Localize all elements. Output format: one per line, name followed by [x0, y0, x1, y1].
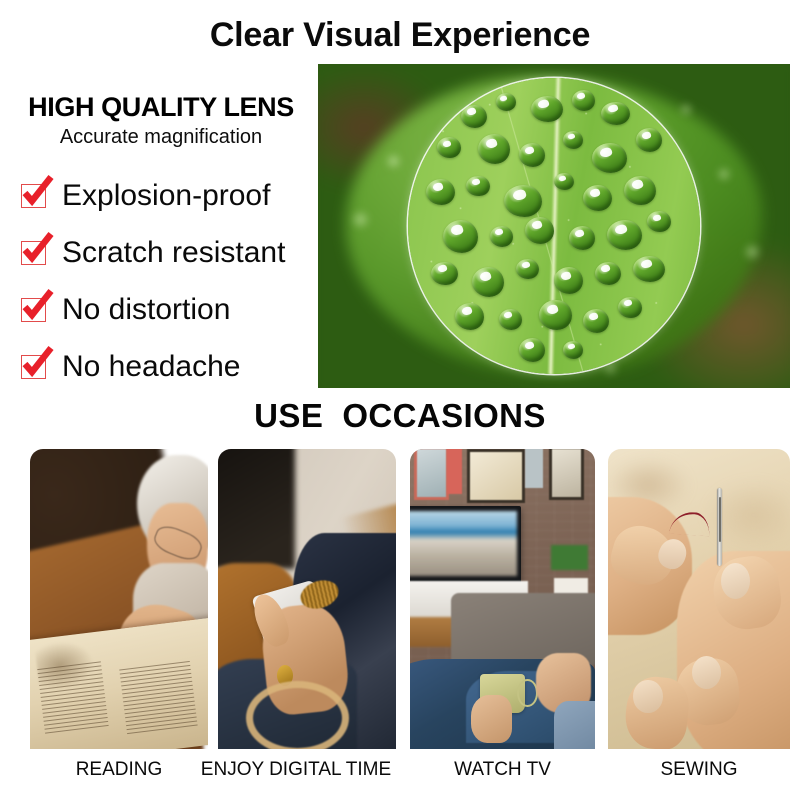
wall-picture-frame: [467, 449, 525, 503]
water-droplet: [618, 297, 641, 318]
shirt-sleeve: [554, 701, 595, 749]
water-droplet: [636, 128, 662, 152]
occasions-photo-strip: [0, 449, 800, 749]
hero-leaf-photo: [318, 64, 790, 388]
hand-holding-mug: [471, 695, 512, 743]
water-droplet: [572, 90, 595, 111]
caption-sewing: SEWING: [608, 757, 790, 783]
feature-label: No distortion: [62, 293, 230, 327]
checkbox-checked-icon: [21, 184, 46, 208]
water-droplet: [519, 143, 545, 167]
water-droplet: [496, 93, 516, 111]
mug-handle: [517, 679, 538, 707]
water-droplet: [443, 220, 478, 253]
checkbox-checked-icon: [21, 241, 46, 265]
caption-digital-time: ENJOY DIGITAL TIME: [196, 757, 396, 783]
features-subheading: Accurate magnification: [4, 125, 318, 149]
water-droplet: [516, 259, 539, 280]
water-droplet: [478, 134, 510, 164]
book-text-right: [119, 661, 198, 735]
water-droplet: [583, 185, 612, 212]
water-droplet: [504, 185, 542, 218]
page-title: Clear Visual Experience: [0, 14, 800, 56]
right-fingernail-lower: [633, 680, 662, 713]
checkbox-checked-icon: [21, 355, 46, 379]
water-droplet: [607, 220, 642, 250]
book-text-left: [37, 661, 109, 734]
water-droplet: [563, 341, 583, 359]
water-droplet: [472, 267, 504, 297]
water-droplet: [531, 96, 563, 123]
features-heading: HIGH QUALITY LENS: [4, 92, 318, 122]
feature-label: Explosion-proof: [62, 179, 270, 213]
water-droplet: [490, 226, 513, 247]
television-set: [410, 506, 521, 584]
wooden-cane-handle: [246, 681, 349, 749]
television-screen: [410, 511, 517, 577]
feature-list: Explosion-proof Scratch resistant No dis…: [0, 167, 318, 395]
right-fingernail-middle: [692, 656, 721, 689]
list-item: Scratch resistant: [0, 224, 318, 281]
water-droplet: [461, 105, 487, 129]
list-item: No headache: [0, 338, 318, 395]
water-droplet: [431, 262, 457, 286]
occasion-photo-watch-tv: [410, 449, 595, 749]
water-droplet: [539, 300, 571, 330]
phone-dark-corner: [218, 449, 295, 569]
water-droplet: [466, 176, 489, 197]
water-droplet: [595, 262, 621, 286]
wall-picture-frame: [525, 449, 544, 488]
occasion-captions: READING ENJOY DIGITAL TIME WATCH TV SEWI…: [0, 757, 800, 791]
water-droplet: [624, 176, 656, 206]
water-droplet: [592, 143, 627, 173]
list-item: Explosion-proof: [0, 167, 318, 224]
feature-label: Scratch resistant: [62, 236, 285, 270]
wall-picture-frame: [549, 449, 585, 500]
wall-picture-frame: [447, 449, 462, 494]
water-droplet: [519, 338, 545, 362]
needle-eye: [719, 497, 721, 542]
water-droplet: [633, 256, 665, 283]
checkbox-checked-icon: [21, 298, 46, 322]
occasion-photo-sewing: [608, 449, 790, 749]
water-droplet: [583, 309, 609, 333]
feature-label: No headache: [62, 350, 240, 384]
caption-watch-tv: WATCH TV: [410, 757, 595, 783]
wall-picture-frame: [414, 449, 450, 500]
features-section: HIGH QUALITY LENS Accurate magnification…: [0, 92, 318, 411]
magnifier-lens-circle: [408, 78, 700, 374]
water-droplet: [554, 267, 583, 294]
water-droplet: [647, 211, 670, 232]
list-item: No distortion: [0, 281, 318, 338]
water-droplet: [499, 309, 522, 330]
caption-reading: READING: [30, 757, 208, 783]
water-droplet: [455, 303, 484, 330]
water-droplet: [601, 102, 630, 126]
occasion-photo-reading: [30, 449, 208, 749]
occasion-photo-digital-time: [218, 449, 396, 749]
water-droplet: [525, 217, 554, 244]
right-fingernail-upper: [721, 563, 750, 599]
water-droplet: [437, 137, 460, 158]
occasions-heading: USE OCCASIONS: [0, 396, 800, 436]
water-droplet: [569, 226, 595, 250]
water-droplet: [563, 131, 583, 149]
water-droplet: [426, 179, 455, 206]
